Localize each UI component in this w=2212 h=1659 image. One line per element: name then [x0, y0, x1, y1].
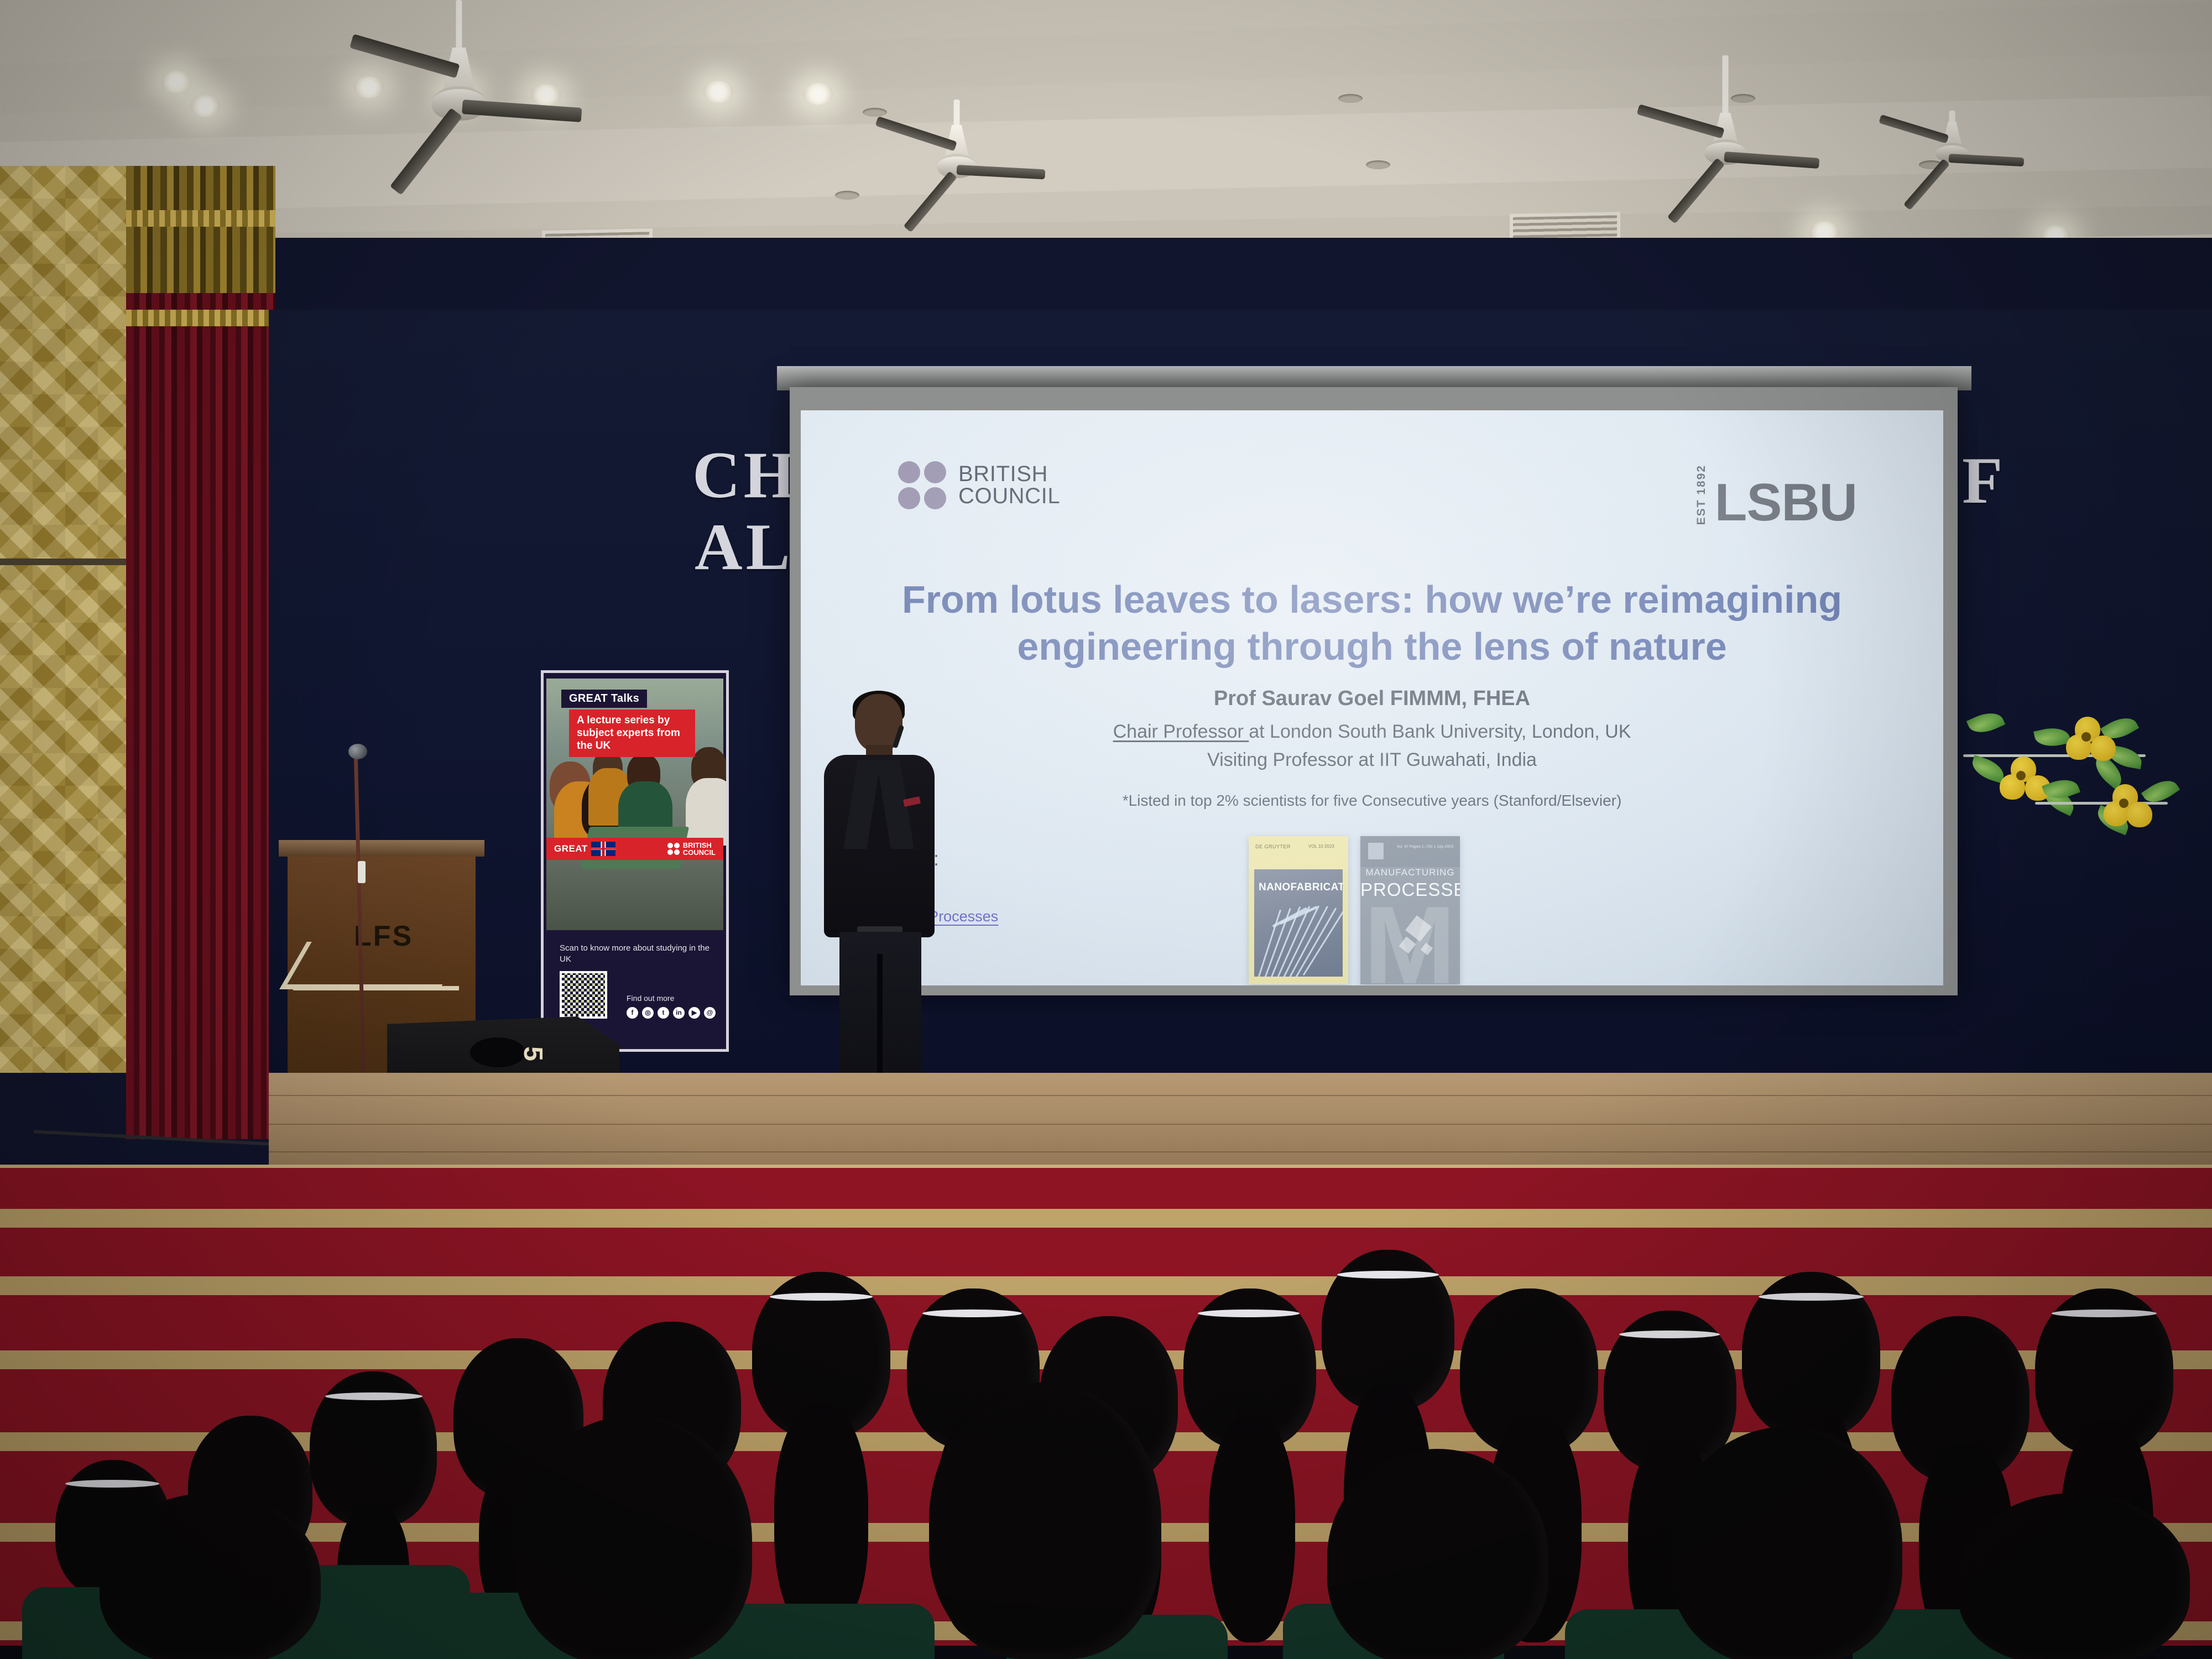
curtain-fringe [126, 310, 275, 326]
microphone-cable-clip [358, 861, 366, 883]
journal-cover-manufacturing-processes: Vol. 97 Pages 1–720 1 July 2023 MANUFACT… [1360, 836, 1460, 984]
affiliation-line-1: Chair Professor at London South Bank Uni… [801, 718, 1943, 746]
nanofab-publisher: DE GRUYTER [1255, 844, 1291, 849]
british-council-dots [898, 461, 946, 509]
ceiling-band [0, 2, 2212, 114]
slide-footnote: *Listed in top 2% scientists for five Co… [801, 792, 1943, 810]
linkedin-icon[interactable]: in [673, 1007, 685, 1019]
audience-hair-braid [1209, 1416, 1295, 1642]
affiliation-rest: at London South Bank University, London,… [1249, 721, 1631, 742]
auditorium-photo: CH AL F [0, 0, 2212, 1659]
ceiling-fixture-hole [835, 191, 859, 200]
qr-code-icon[interactable] [560, 971, 607, 1019]
banner-logo-bar: GREAT BRITISH COUNCIL [546, 838, 723, 860]
ceiling-fan [393, 0, 525, 155]
affiliation-line-2: Visiting Professor at IIT Guwahati, Indi… [801, 746, 1943, 774]
backdrop-letters-al: AL [695, 509, 794, 585]
hair-band [325, 1392, 422, 1400]
great-talks-rollup-banner: GREAT Talks A lecture series by subject … [541, 670, 729, 1052]
downlight [703, 81, 733, 103]
lsbu-est-label: EST 1892 [1695, 463, 1708, 525]
step [0, 1228, 2212, 1296]
union-jack-icon [591, 842, 615, 856]
stage-floor [269, 1073, 2212, 1178]
curtain-valance [126, 166, 275, 293]
backdrop-letters-ch: CH [692, 437, 799, 513]
slide-title-line-1: From lotus leaves to lasers: how we’re r… [851, 576, 1893, 623]
british-council-wordmark: BRITISH COUNCIL [683, 842, 716, 856]
curtain-fringe [126, 210, 275, 227]
audience-head-foreground [1670, 1427, 1902, 1659]
podium-top-ledge [279, 840, 484, 857]
podium-trim-line [293, 986, 459, 990]
hair-band [2052, 1310, 2157, 1317]
audience-head-foreground [514, 1416, 752, 1659]
lsbu-wordmark: LSBU [1715, 480, 1857, 525]
nanofab-artwork: NANOFABRICATION [1254, 869, 1343, 977]
banner-subtitle: A lecture series by subject experts from… [569, 709, 695, 757]
backdrop-letter-f: F [1962, 442, 2006, 519]
wall-trim [0, 559, 133, 565]
british-council-logo-white: BRITISH COUNCIL [667, 842, 716, 856]
facebook-icon[interactable]: f [627, 1007, 638, 1019]
ceiling-fan [901, 100, 1012, 221]
proc-title-line-1: MANUFACTURING [1360, 867, 1460, 878]
audience-head-foreground [100, 1493, 321, 1659]
hair-band [922, 1310, 1022, 1317]
ceiling-fan [1902, 111, 2002, 210]
hair-band [770, 1293, 873, 1301]
speaker-brand-logo: 5 [518, 1046, 548, 1061]
nanofab-title: NANOFABRICATION [1259, 881, 1343, 894]
ceiling-fixture-hole [1366, 160, 1390, 169]
hair-band [1198, 1310, 1300, 1317]
step [0, 1168, 2212, 1228]
great-logo: GREAT [554, 842, 615, 856]
audience-hair-braid [774, 1405, 868, 1637]
presenter-affiliation: Chair Professor at London South Bank Uni… [801, 718, 1943, 774]
audience-head-foreground [929, 1383, 1161, 1659]
ceiling-fan [1665, 55, 1786, 188]
banner-find-out-more: Find out more [627, 994, 674, 1003]
flower-decoration [2035, 774, 2212, 874]
projected-slide: BRITISH COUNCIL EST 1892 LSBU From lotus… [801, 410, 1943, 985]
banner-scan-text: Scan to know more about studying in the … [560, 943, 710, 964]
audience-head-foreground [1958, 1493, 2190, 1659]
banner-social-icons[interactable]: f ◎ t in ▶ @ [627, 1007, 716, 1019]
banner-person-body [686, 778, 729, 846]
elsevier-logo [1368, 843, 1384, 859]
ceiling-fixture-hole [863, 108, 887, 117]
lsbu-logo: EST 1892 LSBU [1695, 463, 1857, 525]
slide-title-line-2: engineering through the lens of nature [851, 623, 1893, 670]
youtube-icon[interactable]: ▶ [688, 1007, 700, 1019]
bc-line-2: COUNCIL [683, 849, 716, 856]
microphone-icon [348, 744, 367, 759]
bc-line-2: COUNCIL [958, 486, 1060, 508]
hair-band [1619, 1331, 1720, 1338]
journal-covers: DE GRUYTER VOL 10 2023 NANOFABRICATION [1249, 836, 1460, 984]
ceiling-fixture-hole [1338, 94, 1363, 103]
audience-head-foreground [1327, 1449, 1548, 1659]
great-wordmark: GREAT [554, 843, 588, 854]
downlight [190, 95, 220, 117]
twitter-icon[interactable]: t [658, 1007, 669, 1019]
gold-wall-panel-texture [0, 166, 133, 1073]
journal-cover-nanofabrication: DE GRUYTER VOL 10 2023 NANOFABRICATION [1249, 836, 1348, 984]
presenter-leg-gap [877, 954, 883, 1092]
british-council-logo: BRITISH COUNCIL [898, 461, 1060, 509]
hair-band [1759, 1293, 1864, 1301]
ceiling-band [0, 96, 2212, 214]
bc-line-1: BRITISH [958, 463, 1060, 486]
audience-body [713, 1604, 935, 1659]
hair-band [65, 1480, 159, 1488]
slide-title: From lotus leaves to lasers: how we’re r… [851, 576, 1893, 671]
proc-meta: Vol. 97 Pages 1–720 1 July 2023 [1397, 845, 1453, 849]
british-council-dots [667, 843, 680, 855]
threads-icon[interactable]: @ [704, 1007, 716, 1019]
presenter-name: Prof Saurav Goel FIMMM, FHEA [801, 687, 1943, 711]
banner-tag-title: GREAT Talks [561, 690, 647, 708]
presenter-speaker [812, 694, 945, 1136]
british-council-wordmark: BRITISH COUNCIL [958, 463, 1060, 507]
downlight [161, 71, 191, 93]
hair-band [1337, 1271, 1439, 1279]
affiliation-role: Chair Professor [1113, 721, 1249, 742]
downlight [803, 83, 833, 105]
downlight [354, 76, 384, 98]
nanofab-volume: VOL 10 2023 [1308, 844, 1334, 849]
podium-chevron-trim [279, 942, 467, 989]
downlight [531, 84, 561, 106]
instagram-icon[interactable]: ◎ [642, 1007, 654, 1019]
